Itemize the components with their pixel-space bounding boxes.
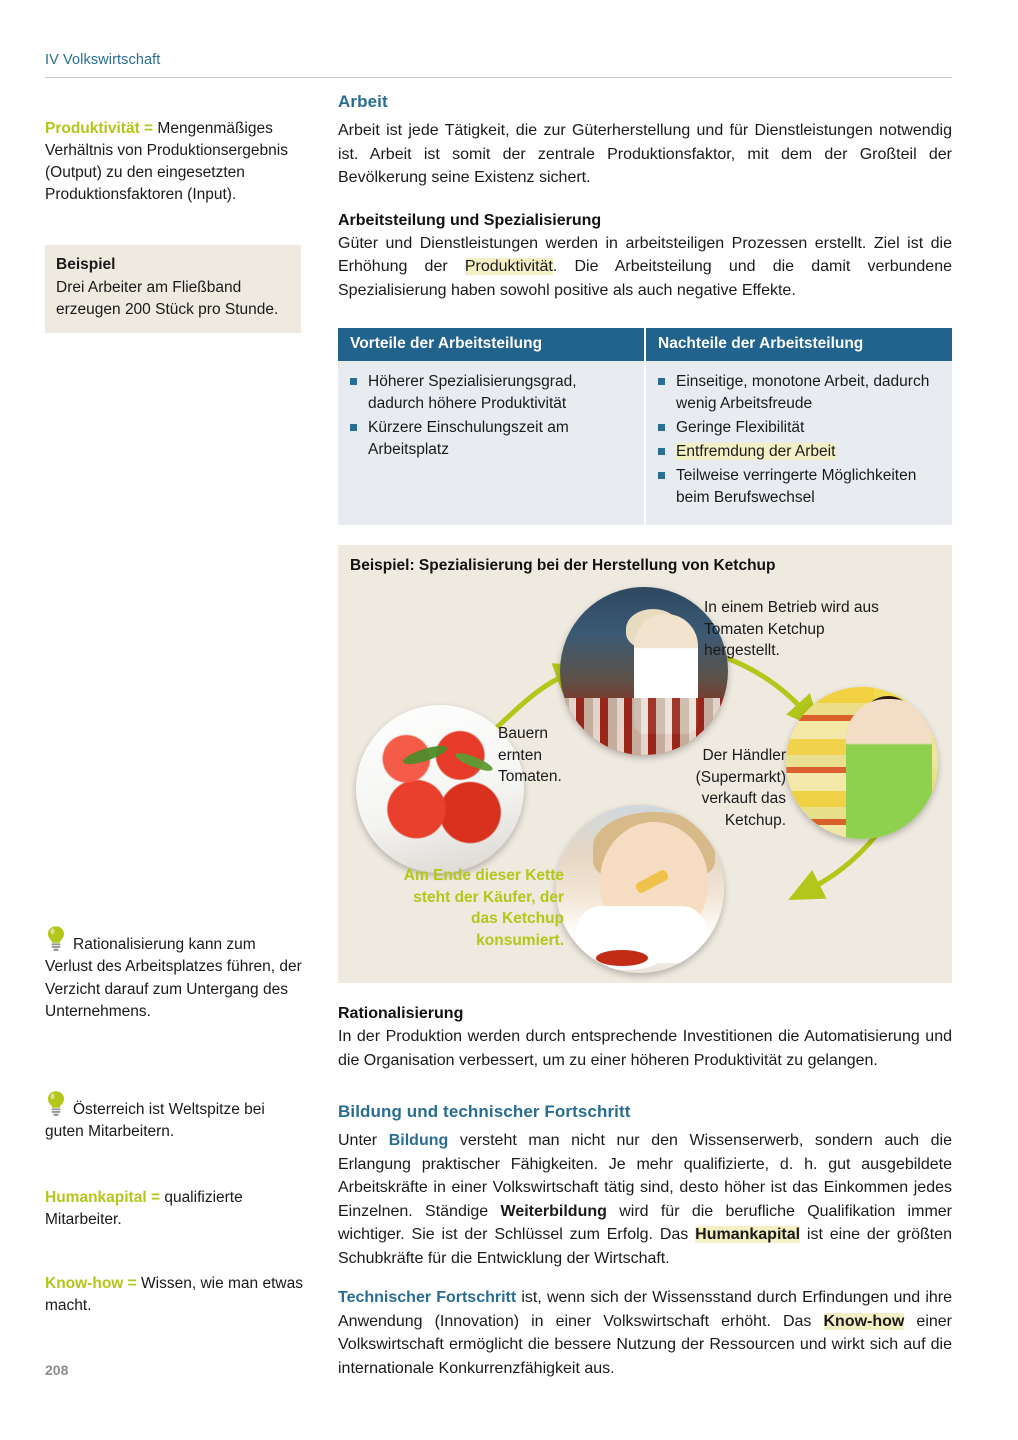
ketchup-value-chain-diagram: Beispiel: Spezialisierung bei der Herste…: [338, 545, 952, 983]
blue-term: Technischer Fortschritt: [338, 1289, 516, 1306]
margin-definition-humankapital: Humankapital = qualifizierte Mitarbeiter…: [45, 1187, 307, 1231]
definition-equals: =: [144, 120, 153, 137]
lightbulb-icon: [45, 925, 67, 953]
list-item: Höherer Spezialisierungsgrad, dadurch hö…: [350, 371, 632, 415]
list-item: Kürzere Einschulungszeit am Arbeitsplatz: [350, 417, 632, 461]
bold-term: Weiterbildung: [501, 1203, 607, 1220]
main-content-column: Arbeit Arbeit ist jede Tätigkeit, die zu…: [338, 92, 952, 1380]
margin-definition-produktivitaet: Produktivität = Mengenmäßiges Verhältnis…: [45, 118, 307, 206]
table-cell-nachteile: Einseitige, monotone Arbeit, dadurch wen…: [645, 361, 952, 525]
definition-equals: =: [128, 1275, 137, 1292]
factory-worker-photo: [560, 587, 728, 755]
page-header: IV Volkswirtschaft: [45, 52, 952, 68]
diagram-caption-factory: In einem Betrieb wird aus Tomaten Ketchu…: [704, 597, 894, 662]
definition-equals: =: [151, 1189, 160, 1206]
highlighted-term: Humankapital: [695, 1226, 800, 1243]
section-paragraph-rationalisierung: In der Produktion werden durch entsprech…: [338, 1025, 952, 1072]
textbook-page: IV Volkswirtschaft Produktivität = Menge…: [0, 0, 1018, 1440]
diagram-caption-farmers: Bauern ernten Tomaten.: [498, 723, 584, 788]
supermarket-shopper-photo: [786, 687, 938, 839]
table-header-nachteile: Nachteile der Arbeitsteilung: [645, 328, 952, 361]
section-heading-arbeit: Arbeit: [338, 92, 952, 112]
page-number: 208: [45, 1362, 68, 1378]
table-cell-vorteile: Höherer Spezialisierungsgrad, dadurch hö…: [338, 361, 645, 525]
table-header-row: Vorteile der Arbeitsteilung Nachteile de…: [338, 328, 952, 361]
section-paragraph-bildung-1: Unter Bildung versteht man nicht nur den…: [338, 1129, 952, 1270]
margin-definition-knowhow: Know-how = Wissen, wie man etwas macht.: [45, 1273, 307, 1317]
definition-term: Humankapital: [45, 1189, 147, 1206]
header-divider: [45, 77, 952, 78]
list-item: Geringe Flexibilität: [658, 417, 940, 439]
section-paragraph-arbeitsteilung: Güter und Dienstleistungen werden in arb…: [338, 232, 952, 303]
lightbulb-icon: [45, 1090, 67, 1118]
section-heading-arbeitsteilung: Arbeitsteilung und Spezialisierung: [338, 212, 952, 230]
tip-text: Österreich ist Weltspitze bei guten Mita…: [45, 1101, 265, 1140]
example-box-text: Drei Arbeiter am Fließband erzeugen 200 …: [56, 279, 278, 318]
definition-term: Know-how: [45, 1275, 123, 1292]
list-item: Einseitige, monotone Arbeit, dadurch wen…: [658, 371, 940, 415]
blue-term: Bildung: [389, 1132, 449, 1149]
diagram-caption-retailer: Der Händler (Supermarkt) verkauft das Ke…: [650, 745, 786, 832]
advantages-disadvantages-table: Vorteile der Arbeitsteilung Nachteile de…: [338, 328, 952, 525]
margin-tip-rationalisierung: Rationalisierung kann zum Verlust des Ar…: [45, 925, 307, 1024]
list-item: Entfremdung der Arbeit: [658, 441, 940, 463]
example-box-title: Beispiel: [56, 254, 290, 276]
highlighted-term: Know-how: [824, 1313, 905, 1330]
section-heading-rationalisierung: Rationalisierung: [338, 1005, 952, 1023]
section-paragraph-bildung-2: Technischer Fortschritt ist, wenn sich d…: [338, 1286, 952, 1380]
table-row: Höherer Spezialisierungsgrad, dadurch hö…: [338, 361, 952, 525]
section-paragraph-arbeit: Arbeit ist jede Tätigkeit, die zur Güter…: [338, 119, 952, 190]
tip-text: Rationalisierung kann zum Verlust des Ar…: [45, 936, 302, 1020]
highlighted-term: Produktivität: [465, 258, 553, 275]
section-heading-bildung: Bildung und technischer Fortschritt: [338, 1102, 952, 1122]
diagram-caption-consumer: Am Ende dieser Kette steht der Käufer, d…: [398, 865, 564, 952]
table-header-vorteile: Vorteile der Arbeitsteilung: [338, 328, 645, 361]
chapter-label: IV Volkswirtschaft: [45, 52, 952, 68]
margin-example-box: Beispiel Drei Arbeiter am Fließband erze…: [45, 228, 301, 333]
list-item: Teilweise verringerte Möglichkeiten beim…: [658, 465, 940, 509]
margin-tip-austria: Österreich ist Weltspitze bei guten Mita…: [45, 1090, 307, 1144]
definition-term: Produktivität: [45, 120, 140, 137]
